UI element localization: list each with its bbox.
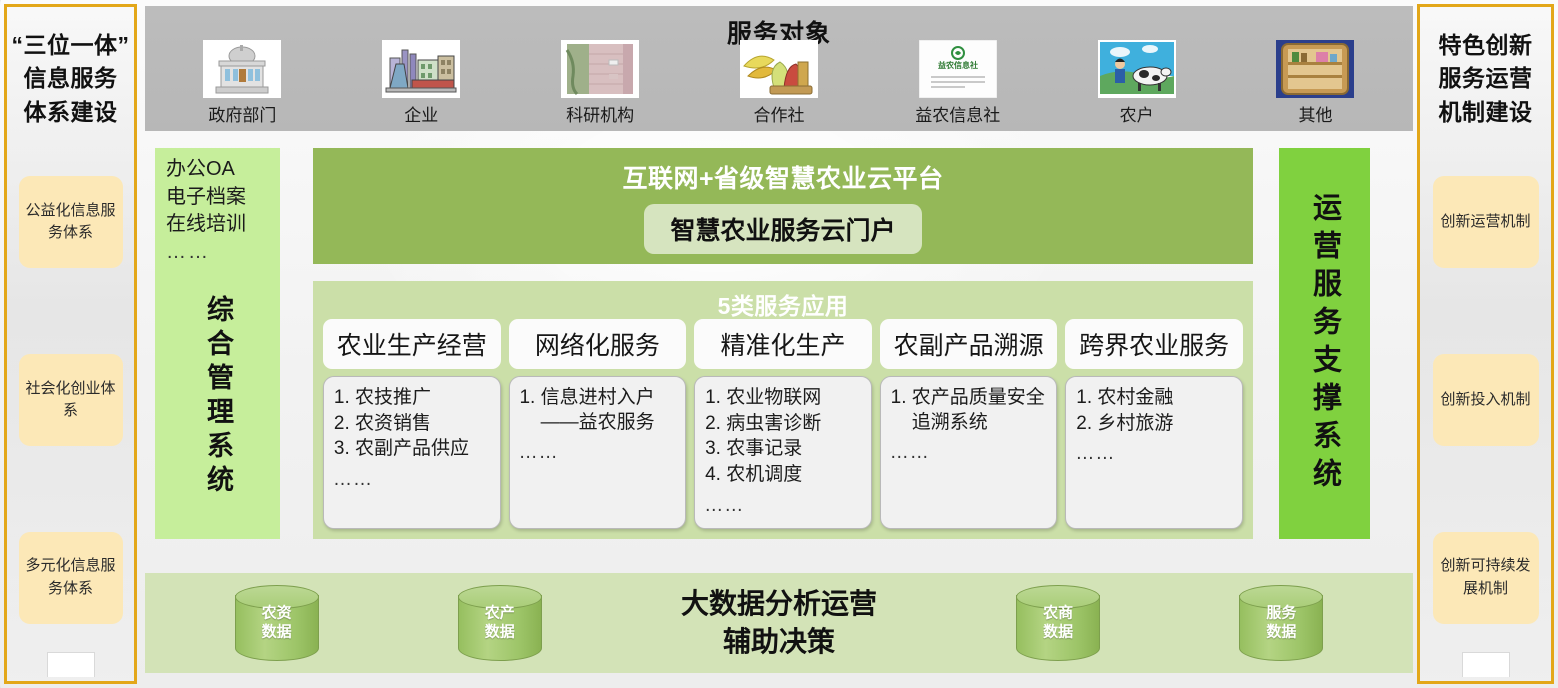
cylinder-label: 农产 数据	[458, 604, 542, 642]
app-item: 农产品质量安全追溯系统	[912, 386, 1049, 435]
platform-portal-pill[interactable]: 智慧农业服务云门户	[644, 204, 921, 254]
service-object-government[interactable]: 政府部门	[167, 40, 317, 126]
service-object-other[interactable]: 其他	[1240, 40, 1390, 126]
right-panel-box-innovation-sustainable[interactable]: 创新可持续发展机制	[1433, 532, 1539, 624]
app-item: 病虫害诊断	[726, 412, 863, 437]
left-panel-box-list: 公益化信息服务体系 社会化创业体系 多元化信息服务体系	[7, 129, 134, 681]
cylinder-label-line-1: 农资	[235, 604, 319, 623]
farmer-cow-icon	[1098, 40, 1176, 98]
app-ellipsis: ……	[1075, 442, 1234, 467]
cylinder-label-line-2: 数据	[458, 623, 542, 642]
cylinder-label: 农商 数据	[1016, 604, 1100, 642]
left-panel-title-line-2: 信息服务	[12, 62, 130, 95]
left-panel-box-social-entrepreneurship[interactable]: 社会化创业体系	[19, 354, 123, 446]
cylinder-label: 农资 数据	[235, 604, 319, 642]
factory-icon	[382, 40, 460, 98]
service-object-enterprise[interactable]: 企业	[346, 40, 496, 126]
cylinder-label-line-1: 农产	[458, 604, 542, 623]
app-ellipsis: ……	[704, 494, 863, 519]
app-item: 信息进村入户——益农服务	[541, 386, 678, 435]
app-item-list: 农村金融 乡村旅游	[1075, 386, 1234, 436]
cylinder-label-line-2: 数据	[1016, 623, 1100, 642]
left-panel-title-line-1: “三位一体”	[12, 29, 130, 62]
app-item-list: 农技推广 农资销售 农副产品供应	[333, 386, 492, 462]
service-applications-title: 5类服务应用	[313, 287, 1253, 321]
app-head[interactable]: 精准化生产	[694, 319, 872, 369]
cylinder-agri-commerce-data[interactable]: 农商 数据	[1016, 585, 1100, 661]
left-panel-box-public-welfare[interactable]: 公益化信息服务体系	[19, 176, 123, 268]
bigdata-title-line-2: 辅助决策	[681, 623, 877, 661]
right-panel-innovation: 特色创新 服务运营 机制建设 创新运营机制 创新投入机制 创新可持续发展机制	[1417, 4, 1554, 684]
cylinder-label-line-2: 数据	[1239, 623, 1323, 642]
left-panel-title-line-3: 体系建设	[12, 96, 130, 129]
right-panel-title-line-2: 服务运营	[1439, 62, 1533, 95]
app-item-list: 信息进村入户——益农服务	[519, 386, 678, 435]
diagram-root: “三位一体” 信息服务 体系建设 公益化信息服务体系 社会化创业体系 多元化信息…	[0, 0, 1558, 688]
bigdata-bar: 农资 数据 农产 数据 大数据分析运营 辅助决策 农商	[145, 573, 1413, 673]
shelf-icon	[1276, 40, 1354, 98]
right-panel-box-list: 创新运营机制 创新投入机制 创新可持续发展机制	[1420, 129, 1551, 681]
service-objects-row: 政府部门 企业	[153, 40, 1405, 126]
app-body: 农村金融 乡村旅游 ……	[1065, 376, 1243, 529]
right-panel-title: 特色创新 服务运营 机制建设	[1439, 29, 1533, 129]
right-panel-title-line-3: 机制建设	[1439, 96, 1533, 129]
left-panel-three-in-one: “三位一体” 信息服务 体系建设 公益化信息服务体系 社会化创业体系 多元化信息…	[4, 4, 137, 684]
crops-basket-icon	[740, 40, 818, 98]
service-applications-row: 农业生产经营 农技推广 农资销售 农副产品供应 …… 网络化服务 信息进村入户—…	[323, 319, 1243, 529]
bigdata-inner: 农资 数据 农产 数据 大数据分析运营 辅助决策 农商	[145, 573, 1413, 673]
service-object-label: 合作社	[753, 101, 804, 126]
app-head[interactable]: 网络化服务	[509, 319, 687, 369]
left-panel-footer-marker	[47, 652, 95, 677]
app-head[interactable]: 跨界农业服务	[1065, 319, 1243, 369]
right-panel-box-innovation-operation[interactable]: 创新运营机制	[1433, 176, 1539, 268]
government-building-icon	[203, 40, 281, 98]
support-vertical-title: 运营服务支撑系统	[1304, 192, 1346, 496]
service-object-research[interactable]: 科研机构	[525, 40, 675, 126]
right-panel-box-innovation-investment[interactable]: 创新投入机制	[1433, 354, 1539, 446]
cylinder-agri-supplies-data[interactable]: 农资 数据	[235, 585, 319, 661]
operation-support-column: 运营服务支撑系统	[1279, 148, 1370, 539]
app-item: 农事记录	[726, 437, 863, 462]
bigdata-title-line-1: 大数据分析运营	[681, 585, 877, 623]
service-object-label: 农户	[1120, 101, 1154, 126]
platform-header: 互联网+省级智慧农业云平台 智慧农业服务云门户	[313, 148, 1253, 264]
service-applications-panel: 5类服务应用 农业生产经营 农技推广 农资销售 农副产品供应 …… 网络化服务	[313, 281, 1253, 539]
app-body: 农业物联网 病虫害诊断 农事记录 农机调度 ……	[694, 376, 872, 529]
comprehensive-management-column: 办公OA 电子档案 在线培训 …… 综合管理系统	[155, 148, 280, 539]
app-item-list: 农业物联网 病虫害诊断 农事记录 农机调度	[704, 386, 863, 488]
app-column-agricultural-production: 农业生产经营 农技推广 农资销售 农副产品供应 ……	[323, 319, 501, 529]
app-body: 信息进村入户——益农服务 ……	[509, 376, 687, 529]
app-column-product-traceability: 农副产品溯源 农产品质量安全追溯系统 ……	[880, 319, 1058, 529]
cylinder-label: 服务 数据	[1239, 604, 1323, 642]
service-object-label: 企业	[404, 101, 438, 126]
app-body: 农技推广 农资销售 农副产品供应 ……	[323, 376, 501, 529]
right-panel-footer-marker	[1462, 652, 1510, 677]
service-object-farmer[interactable]: 农户	[1062, 40, 1212, 126]
mgmt-line-archive: 电子档案	[166, 184, 271, 212]
app-item-list: 农产品质量安全追溯系统	[890, 386, 1049, 435]
left-panel-box-diversified-info[interactable]: 多元化信息服务体系	[19, 532, 123, 624]
left-panel-title: “三位一体” 信息服务 体系建设	[12, 29, 130, 129]
mgmt-ellipsis: ……	[166, 241, 271, 264]
app-column-crossover-service: 跨界农业服务 农村金融 乡村旅游 ……	[1065, 319, 1243, 529]
service-objects-band: 服务对象 政府部门	[145, 6, 1413, 131]
cylinder-agri-product-data[interactable]: 农产 数据	[458, 585, 542, 661]
service-object-label: 政府部门	[208, 101, 276, 126]
platform-title: 互联网+省级智慧农业云平台	[622, 159, 943, 195]
cylinder-label-line-1: 服务	[1239, 604, 1323, 623]
app-item: 农村金融	[1097, 386, 1234, 411]
app-ellipsis: ……	[333, 468, 492, 493]
cylinder-label-line-1: 农商	[1016, 604, 1100, 623]
app-head[interactable]: 农副产品溯源	[880, 319, 1058, 369]
mgmt-line-training: 在线培训	[166, 211, 271, 239]
service-object-label: 其他	[1298, 101, 1332, 126]
yinong-card-icon: 益农信息社	[919, 40, 997, 98]
app-head[interactable]: 农业生产经营	[323, 319, 501, 369]
bigdata-title: 大数据分析运营 辅助决策	[681, 585, 877, 661]
mgmt-vertical-title: 综合管理系统	[166, 264, 271, 531]
right-panel-title-line-1: 特色创新	[1439, 29, 1533, 62]
app-item: 农技推广	[355, 386, 492, 411]
svg-text:益农信息社: 益农信息社	[938, 60, 978, 70]
app-item: 农资销售	[355, 412, 492, 437]
service-object-label: 科研机构	[566, 101, 634, 126]
app-item: 农机调度	[726, 463, 863, 488]
app-body: 农产品质量安全追溯系统 ……	[880, 376, 1058, 529]
mgmt-line-oa: 办公OA	[166, 156, 271, 184]
app-ellipsis: ……	[519, 441, 678, 466]
service-object-cooperative[interactable]: 合作社	[704, 40, 854, 126]
app-item: 农业物联网	[726, 386, 863, 411]
app-ellipsis: ……	[890, 441, 1049, 466]
service-object-yinong[interactable]: 益农信息社 益农信息社	[883, 40, 1033, 126]
service-object-label: 益农信息社	[915, 101, 1000, 126]
app-item: 农副产品供应	[355, 437, 492, 462]
app-column-networked-service: 网络化服务 信息进村入户——益农服务 ……	[509, 319, 687, 529]
app-column-precision-production: 精准化生产 农业物联网 病虫害诊断 农事记录 农机调度 ……	[694, 319, 872, 529]
cylinder-label-line-2: 数据	[235, 623, 319, 642]
research-building-icon	[561, 40, 639, 98]
cylinder-service-data[interactable]: 服务 数据	[1239, 585, 1323, 661]
app-item: 乡村旅游	[1097, 412, 1234, 437]
